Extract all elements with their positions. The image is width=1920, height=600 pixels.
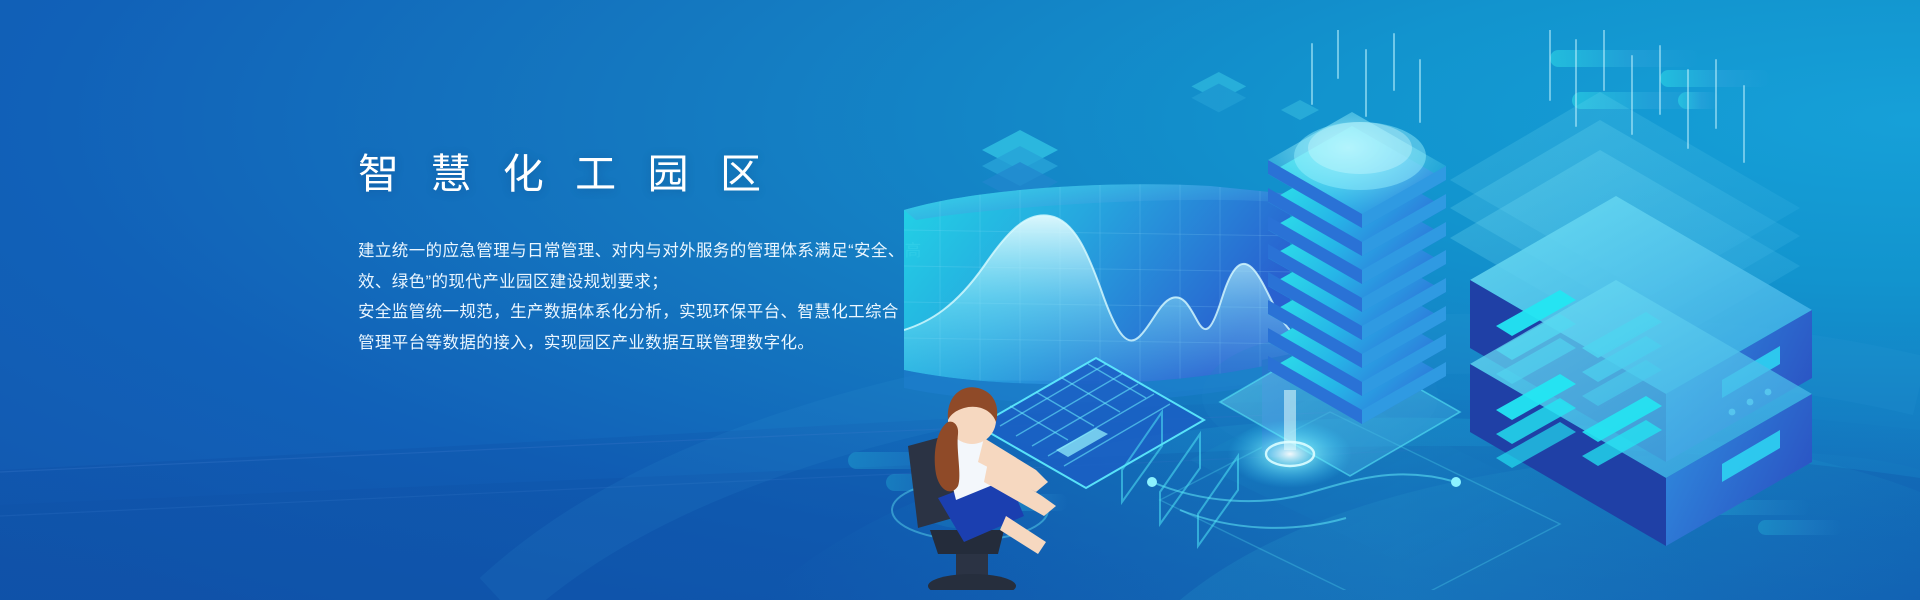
hero-banner: 智 慧 化 工 园 区 建立统一的应急管理与日常管理、对内与对外服务的管理体系满… bbox=[0, 0, 1920, 600]
server-rack bbox=[1450, 30, 1812, 546]
hero-illustration bbox=[860, 30, 1920, 590]
floating-layer-cubes-icon bbox=[982, 72, 1319, 202]
data-stream-lines bbox=[1312, 30, 1420, 122]
